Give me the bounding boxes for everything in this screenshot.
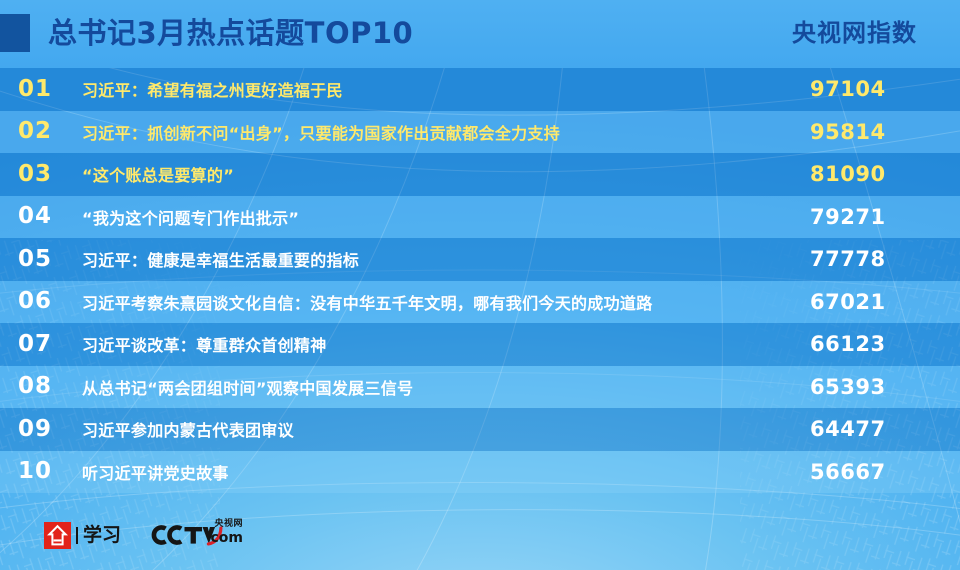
list-item[interactable]: 05 习近平：健康是幸福生活最重要的指标 77778 <box>0 238 960 281</box>
header-bar: 总书记3月热点话题TOP10 央视网指数 <box>0 0 960 68</box>
rank-number: 03 <box>0 163 52 186</box>
rank-number: 08 <box>0 375 52 398</box>
rank-number: 05 <box>0 248 52 271</box>
logo-group: 学习 <box>44 520 243 550</box>
index-value: 64477 <box>802 417 960 441</box>
list-item[interactable]: 02 习近平：抓创新不问“出身”，只要能为国家作出贡献都会全力支持 95814 <box>0 111 960 154</box>
cctv-logo[interactable]: 央视网 com <box>151 520 243 550</box>
xuexi-label: 学习 <box>83 526 121 545</box>
footer-bar: 学习 <box>0 493 960 570</box>
cctv-cn-label: 央视网 <box>215 519 244 529</box>
poster-root: 总书记3月热点话题TOP10 央视网指数 01 习近平：希望有福之州更好造福于民… <box>0 0 960 570</box>
xuexi-wordmark: 学习 <box>76 526 121 545</box>
topic-title[interactable]: 从总书记“两会团组时间”观察中国发展三信号 <box>52 375 802 399</box>
index-value: 77778 <box>802 247 960 271</box>
header-accent-block <box>0 14 30 52</box>
list-item[interactable]: 06 习近平考察朱熹园谈文化自信：没有中华五千年文明，哪有我们今天的成功道路 6… <box>0 281 960 324</box>
index-value: 97104 <box>802 77 960 101</box>
xuexi-qiangguo-logo[interactable]: 学习 <box>44 522 121 549</box>
xuexi-qiangguo-icon <box>44 522 71 549</box>
rank-number: 09 <box>0 418 52 441</box>
index-value: 79271 <box>802 205 960 229</box>
cctv-com-label: com <box>211 531 244 545</box>
index-value: 66123 <box>802 332 960 356</box>
topic-title[interactable]: 习近平参加内蒙古代表团审议 <box>52 417 802 441</box>
topic-title[interactable]: 习近平谈改革：尊重群众首创精神 <box>52 332 802 356</box>
index-value: 95814 <box>802 120 960 144</box>
list-item[interactable]: 07 习近平谈改革：尊重群众首创精神 66123 <box>0 323 960 366</box>
list-item[interactable]: 09 习近平参加内蒙古代表团审议 64477 <box>0 408 960 451</box>
topic-title[interactable]: 习近平：健康是幸福生活最重要的指标 <box>52 247 802 271</box>
index-value: 56667 <box>802 460 960 484</box>
topic-title[interactable]: 习近平：抓创新不问“出身”，只要能为国家作出贡献都会全力支持 <box>52 120 802 144</box>
list-item[interactable]: 10 听习近平讲党史故事 56667 <box>0 451 960 494</box>
metric-column-header: 央视网指数 <box>792 14 917 52</box>
page-title: 总书记3月热点话题TOP10 <box>48 13 413 53</box>
topic-title[interactable]: “我为这个问题专门作出批示” <box>52 205 802 229</box>
list-item[interactable]: 01 习近平：希望有福之州更好造福于民 97104 <box>0 68 960 111</box>
rank-number: 02 <box>0 120 52 143</box>
topic-title[interactable]: 习近平：希望有福之州更好造福于民 <box>52 77 802 101</box>
rank-number: 10 <box>0 460 52 483</box>
index-value: 81090 <box>802 162 960 186</box>
rank-number: 06 <box>0 290 52 313</box>
list-item[interactable]: 03 “这个账总是要算的” 81090 <box>0 153 960 196</box>
xuexi-divider-bar <box>76 527 78 544</box>
ranking-list: 01 习近平：希望有福之州更好造福于民 97104 02 习近平：抓创新不问“出… <box>0 68 960 493</box>
rank-number: 04 <box>0 205 52 228</box>
cctv-logo-icon: 央视网 com <box>151 520 243 550</box>
topic-title[interactable]: 听习近平讲党史故事 <box>52 460 802 484</box>
list-item[interactable]: 08 从总书记“两会团组时间”观察中国发展三信号 65393 <box>0 366 960 409</box>
index-value: 67021 <box>802 290 960 314</box>
index-value: 65393 <box>802 375 960 399</box>
rank-number: 07 <box>0 333 52 356</box>
topic-title[interactable]: “这个账总是要算的” <box>52 162 802 186</box>
rank-number: 01 <box>0 78 52 101</box>
list-item[interactable]: 04 “我为这个问题专门作出批示” 79271 <box>0 196 960 239</box>
topic-title[interactable]: 习近平考察朱熹园谈文化自信：没有中华五千年文明，哪有我们今天的成功道路 <box>52 290 802 314</box>
